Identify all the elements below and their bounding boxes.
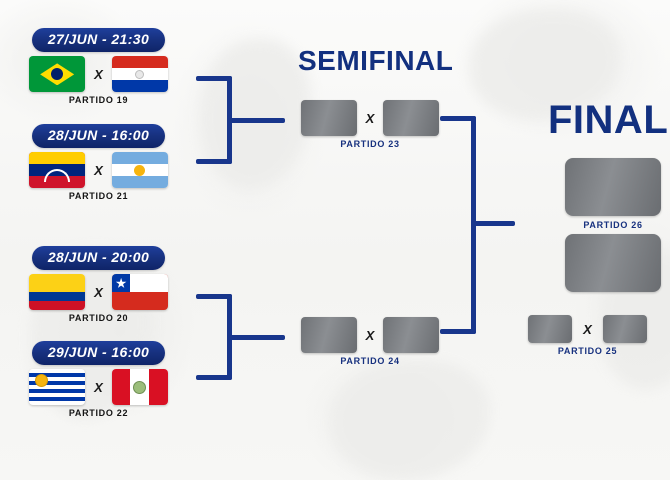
match-card-partido-26[interactable]: PARTIDO 26	[558, 158, 668, 292]
match-number-label: PARTIDO 23	[296, 139, 444, 149]
placeholder-flag	[383, 100, 439, 136]
match-card-partido-22[interactable]: 29/JUN - 16:00 X PARTIDO 22	[16, 341, 181, 418]
match-pairing: X	[515, 315, 660, 343]
final-team-slot-away	[558, 234, 668, 292]
match-number-label: PARTIDO 21	[16, 191, 181, 201]
match-card-partido-23[interactable]: X PARTIDO 23	[296, 100, 444, 149]
match-number-label: PARTIDO 25	[515, 346, 660, 356]
versus-label: X	[94, 380, 103, 395]
match-card-partido-20[interactable]: 28/JUN - 20:00 X PARTIDO 20	[16, 246, 181, 323]
versus-label: X	[94, 285, 103, 300]
match-number-label: PARTIDO 19	[16, 95, 181, 105]
placeholder-flag	[603, 315, 647, 343]
final-team-slot-home	[558, 158, 668, 216]
match-pairing: X	[296, 100, 444, 136]
match-date-badge: 27/JUN - 21:30	[32, 28, 165, 52]
bracket-line	[440, 329, 476, 334]
brazil-flag	[29, 56, 85, 92]
watermark-shape	[330, 360, 490, 480]
match-date-badge: 28/JUN - 20:00	[32, 246, 165, 270]
match-date-badge: 28/JUN - 16:00	[32, 124, 165, 148]
peru-flag	[112, 369, 168, 405]
placeholder-flag	[301, 100, 357, 136]
placeholder-flag	[383, 317, 439, 353]
placeholder-flag	[565, 234, 661, 292]
versus-label: X	[366, 111, 375, 126]
bracket-line	[196, 159, 232, 164]
match-pairing: X	[16, 56, 181, 92]
match-pairing: X	[16, 369, 181, 405]
venezuela-flag	[29, 152, 85, 188]
placeholder-flag	[565, 158, 661, 216]
match-number-label: PARTIDO 26	[558, 220, 668, 230]
bracket-canvas: 27/JUN - 21:30 X PARTIDO 19 28/JUN - 16:…	[0, 0, 670, 480]
placeholder-flag	[528, 315, 572, 343]
versus-label: X	[366, 328, 375, 343]
final-heading: FINAL	[548, 98, 668, 143]
match-card-partido-24[interactable]: X PARTIDO 24	[296, 317, 444, 366]
bracket-line	[196, 375, 232, 380]
chile-flag	[112, 274, 168, 310]
placeholder-flag	[301, 317, 357, 353]
versus-label: X	[94, 163, 103, 178]
versus-label: X	[583, 322, 592, 337]
bracket-line	[227, 335, 285, 340]
match-card-partido-21[interactable]: 28/JUN - 16:00 X PARTIDO 21	[16, 124, 181, 201]
bracket-line	[471, 221, 515, 226]
match-pairing: X	[296, 317, 444, 353]
watermark-shape	[200, 40, 310, 190]
match-number-label: PARTIDO 20	[16, 313, 181, 323]
bracket-line	[227, 118, 285, 123]
match-number-label: PARTIDO 24	[296, 356, 444, 366]
match-number-label: PARTIDO 22	[16, 408, 181, 418]
colombia-flag	[29, 274, 85, 310]
match-card-partido-19[interactable]: 27/JUN - 21:30 X PARTIDO 19	[16, 28, 181, 105]
match-date-badge: 29/JUN - 16:00	[32, 341, 165, 365]
uruguay-flag	[29, 369, 85, 405]
match-pairing: X	[16, 152, 181, 188]
match-card-partido-25[interactable]: X PARTIDO 25	[515, 315, 660, 356]
argentina-flag	[112, 152, 168, 188]
versus-label: X	[94, 67, 103, 82]
semifinal-heading: SEMIFINAL	[298, 45, 453, 77]
match-pairing: X	[16, 274, 181, 310]
paraguay-flag	[112, 56, 168, 92]
